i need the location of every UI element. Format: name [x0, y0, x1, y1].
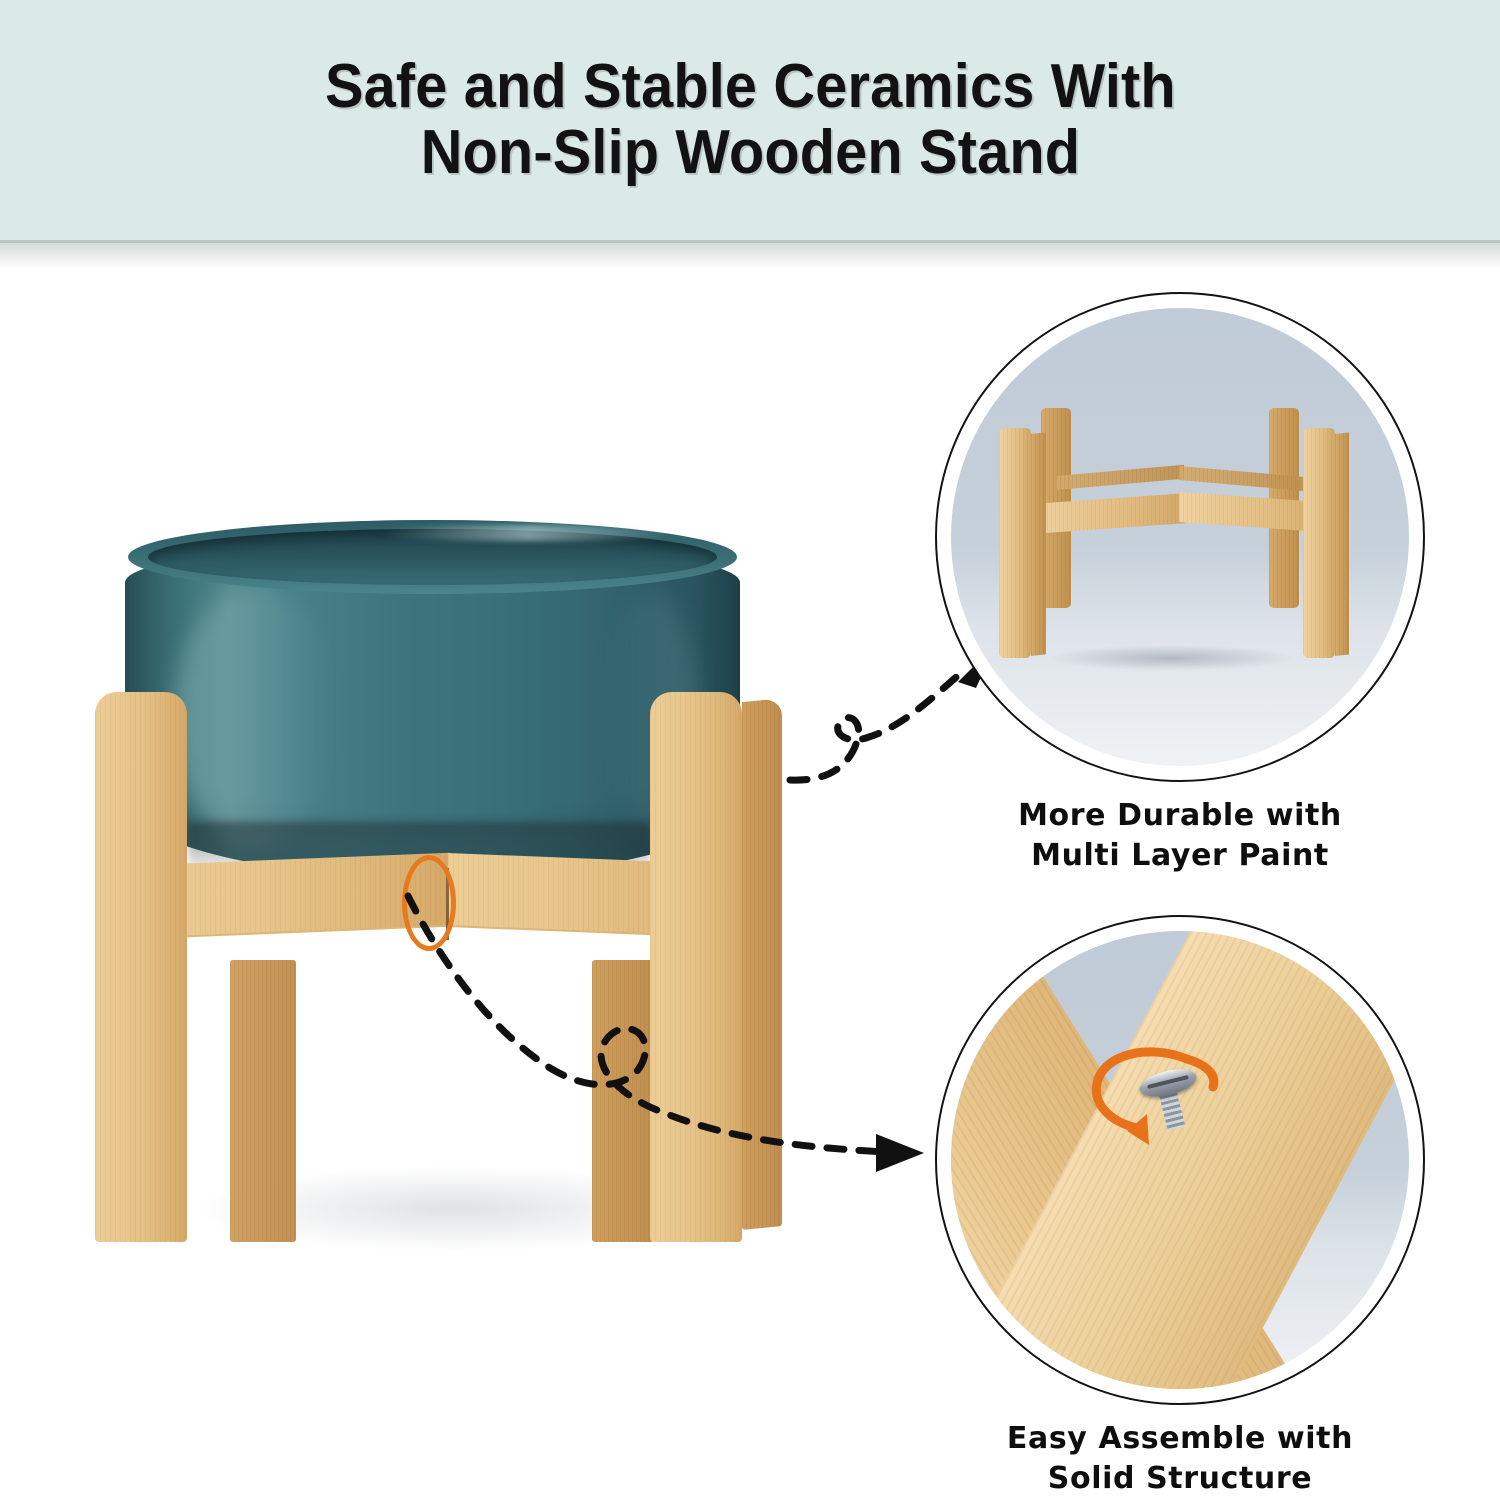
mini-leg-front-left-side	[1031, 432, 1046, 656]
page-title-line-2: Non-Slip Wooden Stand	[325, 120, 1176, 186]
mini-brace-back-left	[1056, 465, 1184, 490]
callout-more-durable: More Durable with Multi Layer Paint	[935, 292, 1435, 876]
inset-circle-bottom	[935, 915, 1425, 1405]
caption-line-1: Easy Assemble with	[935, 1419, 1425, 1459]
caption-line-2: Multi Layer Paint	[935, 836, 1425, 876]
stand-leg-back-left	[230, 960, 296, 1242]
callout-caption-easy-assemble: Easy Assemble with Solid Structure	[935, 1419, 1425, 1499]
caption-line-1: More Durable with	[935, 796, 1425, 836]
inset-image-screw-joint	[951, 931, 1409, 1389]
rotation-arrow-icon	[951, 931, 1409, 1389]
caption-line-2: Solid Structure	[935, 1459, 1425, 1499]
mini-stand	[951, 308, 1409, 766]
mini-leg-front-right	[1303, 428, 1335, 658]
mini-leg-front-left	[999, 428, 1031, 658]
connector-arrow-bottom	[400, 890, 960, 1220]
inset-circle-top	[935, 292, 1425, 782]
page-title-line-1: Safe and Stable Ceramics With	[325, 54, 1176, 120]
stand-leg-front-left	[95, 692, 187, 1242]
mini-leg-front-right-side	[1335, 433, 1349, 656]
header-banner: Safe and Stable Ceramics With Non-Slip W…	[0, 0, 1500, 243]
mini-stand-shadow	[1001, 638, 1341, 678]
callout-easy-assemble: Easy Assemble with Solid Structure	[935, 915, 1435, 1499]
page-title: Safe and Stable Ceramics With Non-Slip W…	[325, 54, 1176, 187]
callout-caption-more-durable: More Durable with Multi Layer Paint	[935, 796, 1425, 876]
inset-image-stand-only	[951, 308, 1409, 766]
